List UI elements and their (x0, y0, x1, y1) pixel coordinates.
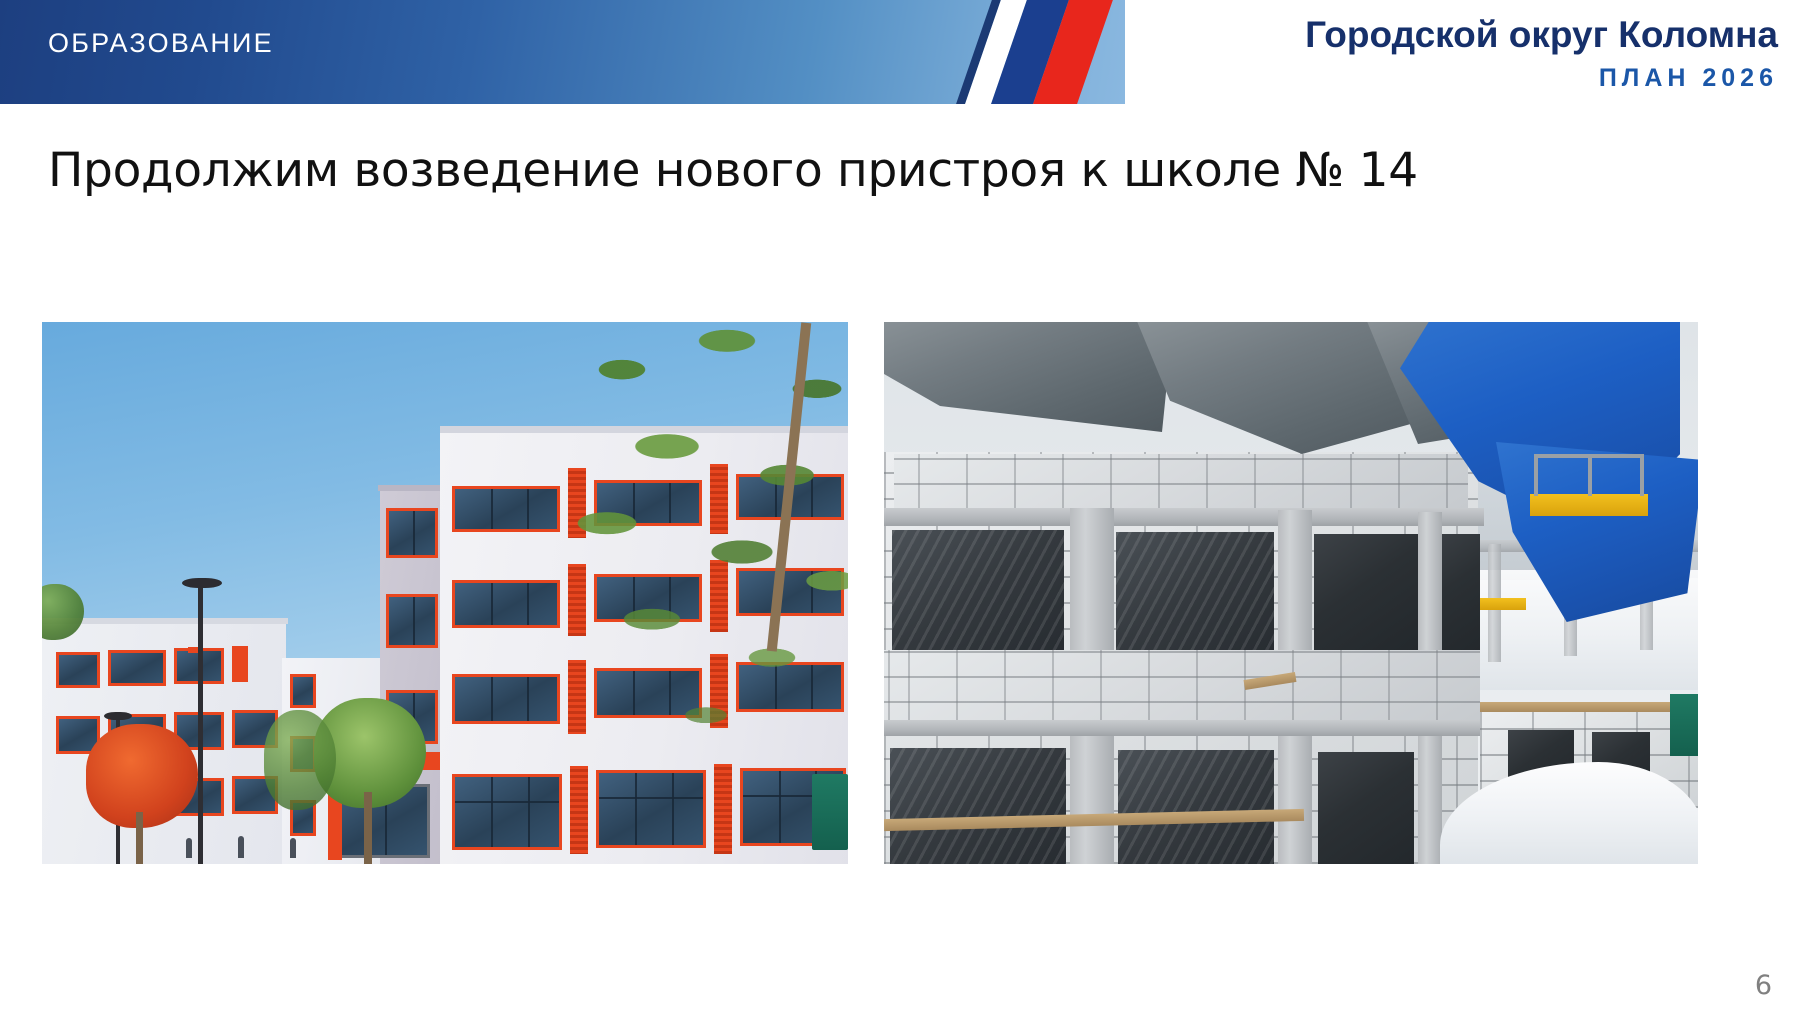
site-fence (1670, 694, 1698, 756)
timber-plank (1480, 702, 1698, 712)
scaffold-deck (1530, 494, 1648, 516)
pedestrian (290, 838, 296, 858)
foreground-tree-canopy (562, 322, 848, 792)
brand-block: Городской округ Коломна ПЛАН 2026 (1138, 16, 1778, 93)
slide-header: ОБРАЗОВАНИЕ Городской округ Коломна ПЛАН… (0, 0, 1800, 104)
spandrel-masonry (884, 650, 1480, 728)
tree-trunk (364, 792, 372, 864)
covered-window-opening (890, 748, 1066, 864)
window (188, 647, 194, 653)
lamp-post (198, 584, 203, 864)
window (108, 650, 166, 686)
red-facade-panel (232, 646, 248, 682)
scaffold-post (1534, 454, 1538, 496)
slide-number: 6 (1755, 970, 1772, 1001)
brand-subtitle: ПЛАН 2026 (1138, 64, 1778, 93)
photo-construction-site (884, 322, 1698, 864)
scaffold-post (1640, 454, 1644, 496)
tree-trunk (136, 812, 143, 864)
page-title: Продолжим возведение нового пристроя к ш… (48, 143, 1418, 198)
covered-window-opening (892, 530, 1064, 652)
scaffold-post (1588, 454, 1592, 496)
covered-window-opening (1116, 532, 1274, 654)
window (452, 774, 562, 850)
pedestrian (238, 836, 244, 858)
covered-window-opening (1118, 750, 1274, 864)
brand-title: Городской округ Коломна (1138, 16, 1778, 55)
floor-beam (884, 720, 1484, 736)
window-opening (1318, 752, 1414, 864)
window (452, 486, 560, 532)
pedestrian (186, 838, 192, 858)
lamp-head-icon (104, 712, 132, 720)
window (290, 674, 316, 708)
utility-cabinet (812, 774, 848, 850)
distant-scaffold-deck (1472, 598, 1526, 610)
window-opening (1314, 534, 1418, 652)
window (56, 652, 100, 688)
window (386, 508, 438, 558)
window (386, 594, 438, 648)
render-image-school (42, 322, 848, 864)
section-label: ОБРАЗОВАНИЕ (48, 28, 274, 59)
floor-beam (884, 508, 1484, 526)
lamp-head-icon (182, 578, 222, 588)
window (452, 580, 560, 628)
parapet-course (894, 454, 1468, 510)
window (452, 674, 560, 724)
school-grey-bay-roof (378, 485, 444, 491)
